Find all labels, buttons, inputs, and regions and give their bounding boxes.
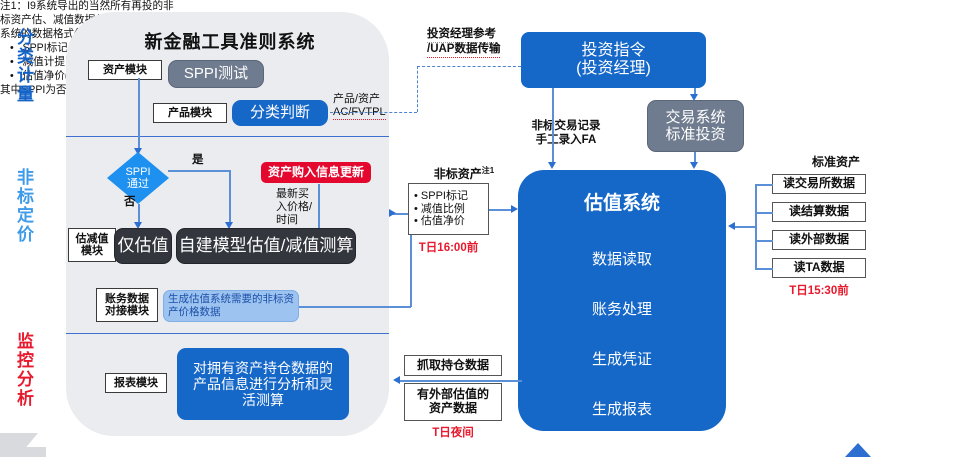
module-tag-accounting: 账务数据 对接模块 [96, 288, 158, 322]
latest-price-annotation: 最新买 入价格/ 时间 [276, 188, 316, 228]
panel-divider-2 [66, 333, 389, 334]
module-tag-label: 报表模块 [114, 377, 158, 389]
only-valuation-label: 仅估值 [118, 236, 169, 256]
connector-order-to-valuation [552, 88, 554, 166]
standard-assets-branch-1 [755, 184, 773, 186]
stage-char: 分 [6, 28, 46, 47]
arrow-right-to-valuation [511, 205, 518, 213]
external-valuation-line1: 有外部估值的 [417, 388, 489, 402]
generate-price-data-label: 生成估值系统需要的非标资产价格数据 [168, 293, 294, 319]
valuation-system-item: 账务处理 [518, 298, 726, 319]
decorative-shape-left-2 [18, 447, 46, 457]
latest-price-line1: 最新买 [276, 188, 316, 201]
nonstandard-item: • SPPI标记 [414, 190, 468, 203]
product-asset-line1: 产品/资产 [333, 93, 395, 106]
module-tag-product: 产品模块 [153, 103, 227, 123]
valuation-system-item: 生成凭证 [518, 348, 726, 369]
trade-system-node[interactable]: 交易系统 标准投资 [647, 100, 744, 152]
manual-entry-line1: 非标交易记录 [521, 120, 611, 134]
pm-reference-line2: /UAP数据传输 [427, 43, 500, 58]
module-tag-label-line1: 账务数据 [105, 293, 149, 305]
latest-price-line3: 时间 [276, 214, 316, 227]
valuation-system-node[interactable]: 估值系统 数据读取 账务处理 生成凭证 生成报表 [518, 170, 726, 431]
fetch-position-data-box: 抓取持仓数据 [404, 355, 502, 376]
nonstandard-deadline: T日16:00前 [408, 239, 489, 255]
stage-char: 标 [6, 187, 46, 206]
panel-divider-1 [66, 136, 389, 137]
decision-yes-label: 是 [192, 154, 204, 168]
connector-pricedata-h1 [299, 306, 411, 308]
arrow-down-to-trade-system [690, 94, 698, 101]
stage-char: 价 [6, 225, 46, 244]
only-valuation-node[interactable]: 仅估值 [114, 228, 172, 264]
chevron-up-icon [845, 443, 871, 457]
standard-assets-branch-4 [755, 268, 773, 270]
valuation-system-title: 估值系统 [518, 188, 726, 215]
manual-entry-annotation: 非标交易记录 手工录入FA [521, 120, 611, 148]
arrow-left-to-position-data [393, 376, 400, 384]
connector-yes-horizontal [168, 170, 230, 172]
module-tag-label: 产品模块 [168, 107, 212, 119]
valuation-system-item: 生成报表 [518, 398, 726, 419]
trade-system-line2: 标准投资 [665, 126, 725, 143]
trade-system-line1: 交易系统 [665, 109, 725, 126]
investment-order-line1: 投资指令 [581, 42, 645, 60]
stage-label-monitoring-analysis: 监 控 分 析 [6, 332, 46, 408]
connector-purchase-to-model [318, 184, 320, 228]
report-analysis-node[interactable]: 对拥有资产持仓数据的产品信息进行分析和灵活测算 [177, 348, 349, 420]
pm-reference-line1: 投资经理参考 [427, 28, 496, 43]
external-valuation-data-box: 有外部估值的 资产数据 [404, 383, 502, 421]
manual-entry-line2: 手工录入FA [521, 134, 611, 148]
stage-label-classification: 分 类 计 量 [6, 28, 46, 104]
stage-label-nonstandard-pricing: 非 标 定 价 [6, 168, 46, 244]
classification-judgement-node[interactable]: 分类判断 [232, 100, 328, 126]
self-built-model-node[interactable]: 自建模型估值/减值测算 [176, 228, 356, 264]
decision-line2: 通过 [127, 178, 149, 190]
connector-valuation-to-position [400, 380, 522, 382]
nonstandard-item: • 估值净价 [414, 215, 465, 228]
standard-asset-item-ta: 读TA数据 [772, 258, 866, 278]
sppi-test-node[interactable]: SPPI测试 [168, 60, 264, 88]
module-tag-report: 报表模块 [105, 373, 167, 393]
connector-asset-to-decision [138, 78, 140, 150]
standard-asset-item-external: 读外部数据 [772, 230, 866, 250]
standard-assets-branch-2 [755, 212, 773, 214]
module-tag-label-line1: 估减值 [76, 233, 109, 245]
stage-char: 定 [6, 206, 46, 225]
connector-nonstandard-to-valuation [489, 209, 513, 211]
self-built-model-label: 自建模型估值/减值测算 [179, 236, 354, 256]
generate-price-data-node[interactable]: 生成估值系统需要的非标资产价格数据 [163, 290, 299, 322]
valuation-system-item: 数据读取 [518, 248, 726, 269]
module-tag-label-line2: 对接模块 [105, 305, 149, 317]
stage-char: 析 [6, 389, 46, 408]
standard-assets-branch-3 [755, 240, 773, 242]
stage-char: 控 [6, 351, 46, 370]
stage-char: 非 [6, 168, 46, 187]
decision-line1: SPPI [125, 166, 150, 178]
report-analysis-label: 对拥有资产持仓数据的产品信息进行分析和灵活测算 [187, 360, 339, 408]
module-tag-asset: 资产模块 [88, 60, 162, 80]
standard-assets-deadline: T日15:30前 [772, 282, 866, 298]
standard-assets-title: 标准资产 [781, 155, 891, 169]
stage-char: 量 [6, 85, 46, 104]
sppi-test-label: SPPI测试 [184, 65, 248, 82]
investment-order-node[interactable]: 投资指令 (投资经理) [521, 32, 706, 88]
pm-reference-annotation: 投资经理参考 /UAP数据传输 [427, 28, 531, 58]
module-tag-label-line2: 模块 [81, 245, 103, 257]
investment-order-line2: (投资经理) [576, 60, 651, 78]
arrow-right-to-nonstandard [389, 209, 396, 217]
nonstandard-asset-box: • SPPI标记 • 减值比例 • 估值净价 [408, 183, 489, 235]
decision-no-label: 否 [124, 196, 136, 210]
dashed-connector-h1 [330, 112, 417, 113]
module-tag-impairment: 估减值 模块 [68, 228, 116, 262]
classification-judgement-label: 分类判断 [250, 104, 310, 121]
arrow-down-to-valuation-left [548, 162, 556, 169]
nonstandard-item: • 减值比例 [414, 203, 465, 216]
external-valuation-line2: 资产数据 [429, 402, 477, 416]
note-reference: 注1 [482, 166, 494, 175]
dashed-connector-v [417, 66, 418, 112]
stage-char: 分 [6, 370, 46, 389]
product-asset-annotation: 产品/资产 AC/FVTPL [333, 93, 395, 120]
asset-purchase-update-node[interactable]: 资产购入信息更新 [261, 162, 371, 183]
diagram-canvas: 分 类 计 量 非 标 定 价 监 控 分 析 新金融工具准则系统 资产模块 S… [0, 0, 969, 457]
stage-char: 类 [6, 47, 46, 66]
module-tag-label: 资产模块 [103, 64, 147, 76]
arrow-left-to-valuation-system [728, 222, 735, 230]
stage-char: 计 [6, 66, 46, 85]
dashed-connector-h2 [417, 66, 521, 67]
standard-asset-item-exchange: 读交易所数据 [772, 174, 866, 194]
external-valuation-deadline: T日夜间 [404, 424, 502, 440]
latest-price-line2: 入价格/ [276, 201, 316, 214]
connector-yes-vertical [229, 170, 231, 224]
standard-assets-trunk [735, 226, 756, 228]
page-title: 新金融工具准则系统 [90, 28, 370, 54]
stage-char: 监 [6, 332, 46, 351]
standard-asset-item-settlement: 读结算数据 [772, 202, 866, 222]
arrow-down-to-valuation-right [690, 162, 698, 169]
nonstandard-asset-title: 非标资产注1 [418, 166, 510, 181]
product-asset-line2: AC/FVTPL [333, 106, 386, 120]
asset-purchase-update-label: 资产购入信息更新 [268, 166, 364, 180]
